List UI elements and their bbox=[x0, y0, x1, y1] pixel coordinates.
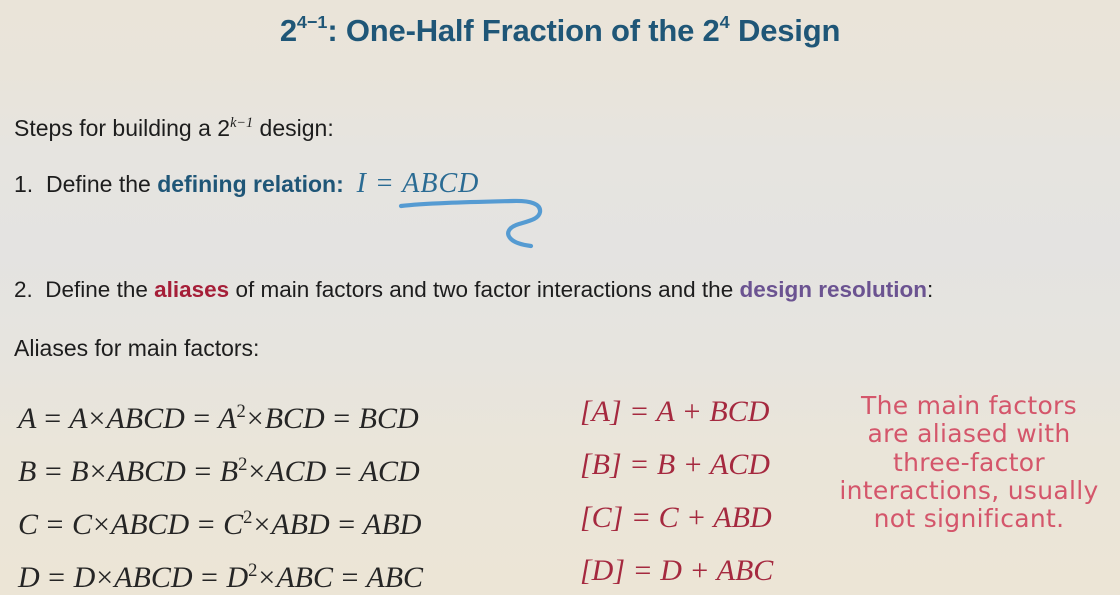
bracket-equation-row: [B] = B + ACD bbox=[580, 438, 773, 491]
step-2-text-3: : bbox=[927, 277, 933, 302]
eq-term-2: ABCD bbox=[106, 402, 184, 435]
equation-row: D = D×ABCD = D2×ABC = ABC bbox=[18, 544, 423, 595]
blue-underline-squiggle-icon bbox=[395, 193, 560, 255]
step-2-text-1: Define the bbox=[45, 277, 154, 302]
eq-lhs: C bbox=[18, 508, 38, 541]
eq-lhs: A bbox=[18, 402, 36, 435]
eq-term-2: ABCD bbox=[111, 508, 189, 541]
equations-left-column: A = A×ABCD = A2×BCD = BCD B = B×ABCD = B… bbox=[18, 385, 423, 595]
design-resolution-label: design resolution bbox=[739, 277, 927, 302]
defining-relation-equation: I = ABCD bbox=[357, 168, 480, 199]
page-title: 24−1: One-Half Fraction of the 24 Design bbox=[0, 12, 1120, 49]
eq-result: BCD bbox=[359, 402, 419, 435]
eq-times-2: × bbox=[252, 508, 271, 541]
eq-square-base: A bbox=[218, 402, 236, 435]
eq-square-base: D bbox=[226, 561, 248, 594]
title-middle: : One-Half Fraction of the 2 bbox=[327, 13, 719, 48]
step-2-number: 2. bbox=[14, 277, 33, 302]
handnote-line: not significant. bbox=[824, 505, 1114, 533]
eq-times-1: × bbox=[92, 508, 111, 541]
eq-square-exp: 2 bbox=[238, 454, 247, 475]
title-tail: Design bbox=[730, 13, 841, 48]
aliases-label: aliases bbox=[154, 277, 229, 302]
eq-result: ACD bbox=[360, 455, 420, 488]
eq-lhs: B bbox=[18, 455, 36, 488]
eq-term-1: A bbox=[69, 402, 87, 435]
eq-result: ABD bbox=[363, 508, 421, 541]
handwritten-annotation: The main factors are aliased with three-… bbox=[824, 392, 1114, 533]
equation-row: B = B×ABCD = B2×ACD = ACD bbox=[18, 438, 423, 491]
handnote-line: three-factor bbox=[824, 449, 1114, 477]
title-base: 2 bbox=[280, 13, 297, 48]
step-2-line: 2. Define the aliases of main factors an… bbox=[14, 278, 933, 303]
eq-square-base: C bbox=[223, 508, 243, 541]
slide-canvas: 24−1: One-Half Fraction of the 24 Design… bbox=[0, 0, 1120, 595]
eq-result: ABC bbox=[366, 561, 423, 594]
eq-term-3: ABC bbox=[276, 561, 333, 594]
eq-term-3: BCD bbox=[265, 402, 325, 435]
step-2-text-2: of main factors and two factor interacti… bbox=[229, 277, 739, 302]
eq-term-1: B bbox=[70, 455, 88, 488]
equation-row: C = C×ABCD = C2×ABD = ABD bbox=[18, 491, 423, 544]
handnote-line: are aliased with bbox=[824, 420, 1114, 448]
eq-lhs: D bbox=[18, 561, 40, 594]
step-1-number: 1. bbox=[14, 171, 33, 197]
equations-bracket-column: [A] = A + BCD [B] = B + ACD [C] = C + AB… bbox=[580, 385, 773, 595]
eq-term-3: ABD bbox=[271, 508, 329, 541]
eq-square-exp: 2 bbox=[248, 560, 257, 581]
eq-term-3: ACD bbox=[266, 455, 326, 488]
step-1-text: Define the bbox=[46, 171, 157, 197]
handnote-line: The main factors bbox=[824, 392, 1114, 420]
bracket-equation-row: [A] = A + BCD bbox=[580, 385, 773, 438]
title-exponent-2: 4 bbox=[720, 12, 730, 32]
eq-term-2: ABCD bbox=[108, 455, 186, 488]
title-exponent: 4−1 bbox=[297, 12, 327, 32]
eq-times-1: × bbox=[89, 455, 108, 488]
intro-suffix: design: bbox=[253, 115, 334, 141]
eq-term-1: D bbox=[74, 561, 96, 594]
eq-times-1: × bbox=[88, 402, 107, 435]
eq-times-2: × bbox=[257, 561, 276, 594]
intro-exponent: k−1 bbox=[230, 115, 253, 131]
eq-square-exp: 2 bbox=[236, 401, 245, 422]
defining-relation-label: defining relation: bbox=[157, 171, 344, 197]
eq-times-2: × bbox=[246, 402, 265, 435]
equation-row: A = A×ABCD = A2×BCD = BCD bbox=[18, 385, 423, 438]
eq-times-1: × bbox=[95, 561, 114, 594]
handnote-line: interactions, usually bbox=[824, 477, 1114, 505]
bracket-equation-row: [D] = D + ABC bbox=[580, 544, 773, 595]
intro-prefix: Steps for building a 2 bbox=[14, 115, 230, 141]
bracket-equation-row: [C] = C + ABD bbox=[580, 491, 773, 544]
intro-line: Steps for building a 2k−1 design: bbox=[14, 116, 334, 141]
eq-term-2: ABCD bbox=[114, 561, 192, 594]
eq-times-2: × bbox=[247, 455, 266, 488]
aliases-heading: Aliases for main factors: bbox=[14, 336, 259, 361]
eq-square-base: B bbox=[220, 455, 238, 488]
step-1-line: 1. Define the defining relation: I = ABC… bbox=[14, 169, 479, 200]
eq-term-1: C bbox=[72, 508, 92, 541]
